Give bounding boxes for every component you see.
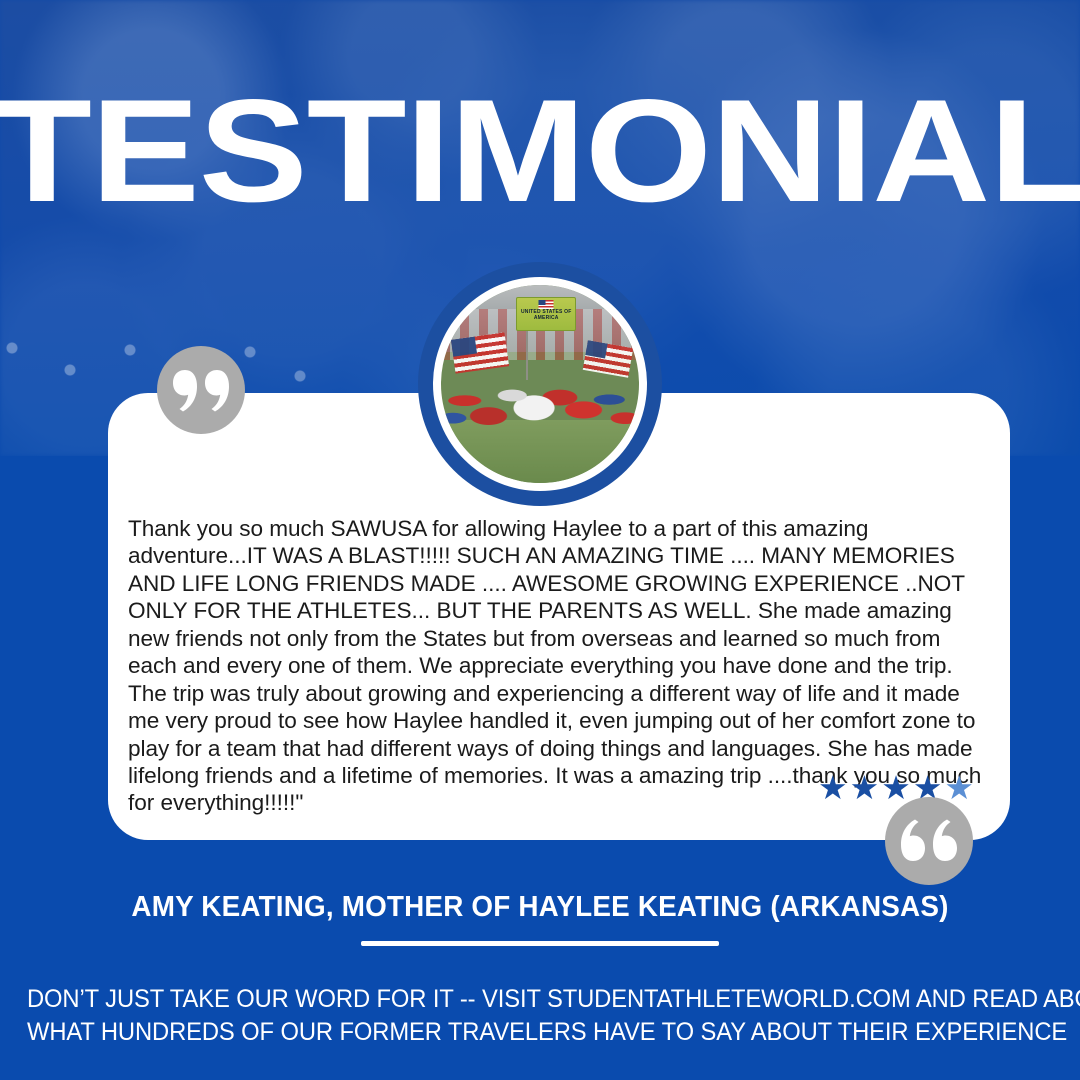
- sign-pole: [526, 329, 528, 380]
- footer-line-1: DON’T JUST TAKE OUR WORD FOR IT -- VISIT…: [27, 983, 1053, 1016]
- star-icon: ★: [818, 771, 848, 804]
- attribution-name: AMY KEATING, MOTHER OF HAYLEE KEATING (A…: [22, 891, 1059, 924]
- star-icon: ★: [881, 771, 911, 804]
- avatar-ring-gap: UNITED STATES OF AMERICA: [433, 277, 647, 491]
- avatar: UNITED STATES OF AMERICA: [418, 262, 662, 506]
- footer-callout: DON’T JUST TAKE OUR WORD FOR IT -- VISIT…: [27, 983, 1053, 1049]
- star-rating: ★ ★ ★ ★ ★: [818, 771, 974, 804]
- testimonial-poster: TESTIMONIAL Thank you so much SAWUSA for…: [0, 0, 1080, 1080]
- divider: [361, 941, 719, 946]
- star-icon: ★: [944, 771, 974, 804]
- quotation-mark-icon: [901, 819, 957, 863]
- open-quote-badge: [157, 346, 245, 434]
- quotation-mark-icon: [173, 368, 229, 412]
- page-title: TESTIMONIAL: [0, 78, 1080, 224]
- delegation-sign: UNITED STATES OF AMERICA: [516, 297, 576, 331]
- close-quote-badge: [885, 797, 973, 885]
- usa-flag-icon: [539, 300, 554, 309]
- footer-line-2: WHAT HUNDREDS OF OUR FORMER TRAVELERS HA…: [27, 1016, 1053, 1049]
- star-icon: ★: [850, 771, 880, 804]
- avatar-photo: UNITED STATES OF AMERICA: [441, 285, 639, 483]
